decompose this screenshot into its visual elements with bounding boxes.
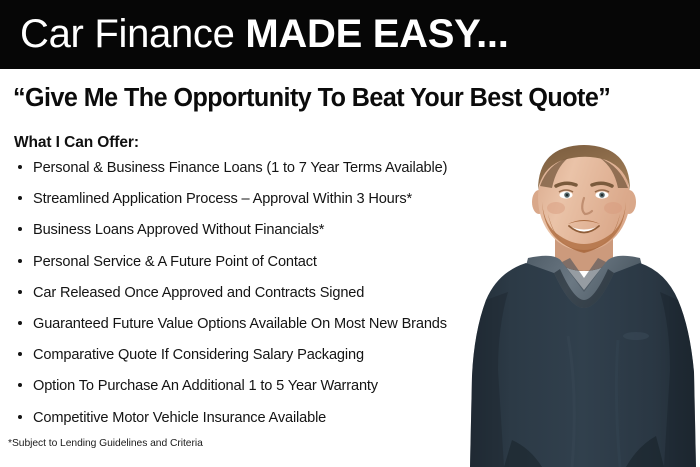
bullet-icon xyxy=(18,352,22,356)
list-item: Personal Service & A Future Point of Con… xyxy=(14,252,514,283)
portrait-photo xyxy=(468,140,700,467)
footnote-disclaimer: *Subject to Lending Guidelines and Crite… xyxy=(8,437,203,451)
list-item-label: Personal & Business Finance Loans (1 to … xyxy=(33,160,447,176)
list-item: Guaranteed Future Value Options Availabl… xyxy=(14,314,514,345)
bullet-icon xyxy=(18,196,22,200)
list-item: Streamlined Application Process – Approv… xyxy=(14,189,514,220)
list-item-label: Business Loans Approved Without Financia… xyxy=(33,222,324,238)
bullet-icon xyxy=(18,321,22,325)
list-item-label: Comparative Quote If Considering Salary … xyxy=(33,347,364,363)
list-item: Business Loans Approved Without Financia… xyxy=(14,220,514,251)
bullet-icon xyxy=(18,383,22,387)
list-item-label: Competitive Motor Vehicle Insurance Avai… xyxy=(33,410,326,426)
page-title: Car Finance MADE EASY... xyxy=(20,10,509,58)
offer-list: Personal & Business Finance Loans (1 to … xyxy=(14,158,514,439)
list-item-label: Streamlined Application Process – Approv… xyxy=(33,191,412,207)
page-title-bold: MADE EASY... xyxy=(245,12,508,56)
header-banner: Car Finance MADE EASY... xyxy=(0,0,700,69)
bullet-icon xyxy=(18,290,22,294)
list-item-label: Guaranteed Future Value Options Availabl… xyxy=(33,316,447,332)
list-item: Car Released Once Approved and Contracts… xyxy=(14,283,514,314)
advertisement-flyer: Car Finance MADE EASY... “Give Me The Op… xyxy=(0,0,700,467)
bullet-icon xyxy=(18,165,22,169)
list-item: Personal & Business Finance Loans (1 to … xyxy=(14,158,514,189)
list-item-label: Personal Service & A Future Point of Con… xyxy=(33,254,317,270)
bullet-icon xyxy=(18,415,22,419)
list-item-label: Car Released Once Approved and Contracts… xyxy=(33,285,364,301)
list-item: Comparative Quote If Considering Salary … xyxy=(14,345,514,376)
portrait-illustration xyxy=(468,140,700,467)
page-title-light: Car Finance xyxy=(20,12,245,56)
list-item-label: Option To Purchase An Additional 1 to 5 … xyxy=(33,378,378,394)
bullet-icon xyxy=(18,227,22,231)
offer-heading: What I Can Offer: xyxy=(14,133,139,153)
list-item: Option To Purchase An Additional 1 to 5 … xyxy=(14,376,514,407)
bullet-icon xyxy=(18,259,22,263)
headline-quote: “Give Me The Opportunity To Beat Your Be… xyxy=(13,83,677,113)
list-item: Competitive Motor Vehicle Insurance Avai… xyxy=(14,408,514,439)
